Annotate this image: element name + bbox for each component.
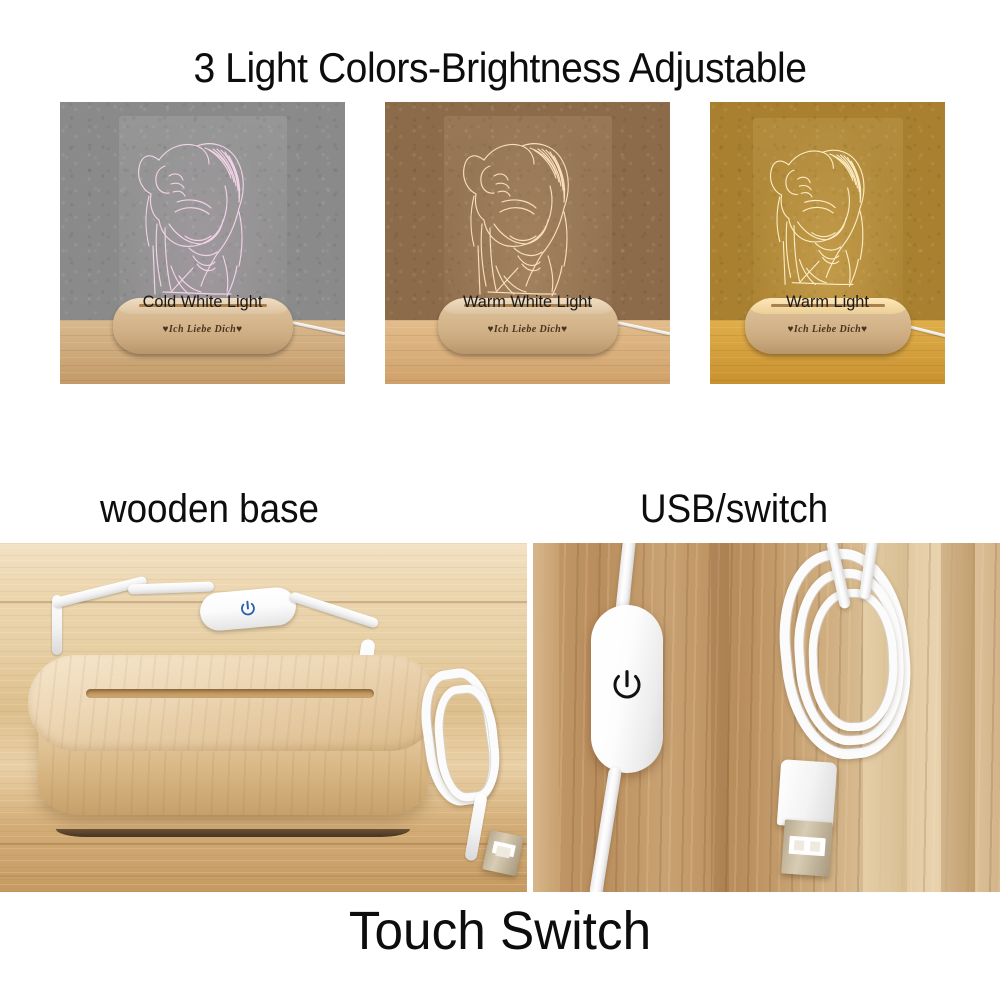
photo-usb-switch — [533, 543, 1000, 892]
acrylic-slot — [86, 689, 374, 698]
label-wooden-base: wooden base — [100, 487, 319, 532]
detail-photo-row — [0, 543, 1000, 892]
usb-plug-housing — [777, 759, 837, 829]
light-color-gallery: ♥Ich Liebe Dich♥ — [0, 102, 1000, 387]
footer-title: Touch Switch — [25, 900, 975, 962]
base-engraving-text: ♥Ich Liebe Dich♥ — [113, 324, 293, 335]
lamp-caption-warm: Warm Light — [715, 292, 941, 312]
couple-line-art — [444, 116, 612, 312]
label-usb-switch: USB/switch — [640, 487, 828, 532]
lamp-photo-warm-white: ♥Ich Liebe Dich♥ — [385, 102, 670, 384]
couple-line-art — [753, 118, 903, 308]
power-icon — [608, 667, 646, 705]
lamp-caption-warm-white: Warm White Light — [391, 292, 665, 312]
lamp-photo-cold-white: ♥Ich Liebe Dich♥ — [60, 102, 345, 384]
acrylic-panel — [444, 116, 612, 312]
lamp-photo-warm: ♥Ich Liebe Dich♥ — [710, 102, 945, 384]
power-icon — [237, 598, 259, 620]
base-engraving-text: ♥Ich Liebe Dich♥ — [438, 324, 618, 335]
page-title: 3 Light Colors-Brightness Adjustable — [35, 44, 965, 92]
couple-line-art — [119, 116, 287, 312]
inline-touch-switch[interactable] — [591, 605, 663, 773]
acrylic-panel — [753, 118, 903, 308]
acrylic-panel — [119, 116, 287, 312]
lamp-caption-cold-white: Cold White Light — [66, 292, 340, 312]
photo-wooden-base — [0, 543, 527, 892]
usb-connector — [781, 819, 833, 876]
base-engraving-text: ♥Ich Liebe Dich♥ — [745, 324, 911, 335]
wooden-base-body — [28, 655, 438, 833]
